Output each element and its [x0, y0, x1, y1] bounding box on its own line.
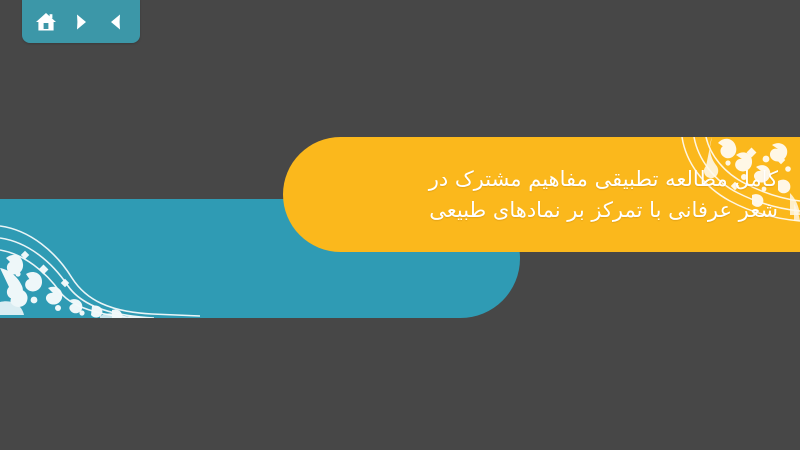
forward-button[interactable] [69, 10, 93, 34]
title-line-2: شعر عرفانی با تمرکز بر نمادهای طبیعی [429, 195, 778, 226]
arabesque-ornament-teal [0, 208, 200, 318]
title-line-1: کامل مطالعه تطبیقی مفاهیم مشترک در [429, 164, 778, 195]
slide-canvas: کامل مطالعه تطبیقی مفاهیم مشترک در شعر ع… [0, 0, 800, 450]
home-icon [35, 11, 57, 33]
navigation-bar [22, 0, 140, 43]
slide-title: کامل مطالعه تطبیقی مفاهیم مشترک در شعر ع… [429, 164, 778, 226]
triangle-right-icon [71, 12, 91, 32]
triangle-left-icon [106, 12, 126, 32]
back-button[interactable] [104, 10, 128, 34]
home-button[interactable] [34, 10, 58, 34]
title-panel: کامل مطالعه تطبیقی مفاهیم مشترک در شعر ع… [283, 137, 800, 252]
